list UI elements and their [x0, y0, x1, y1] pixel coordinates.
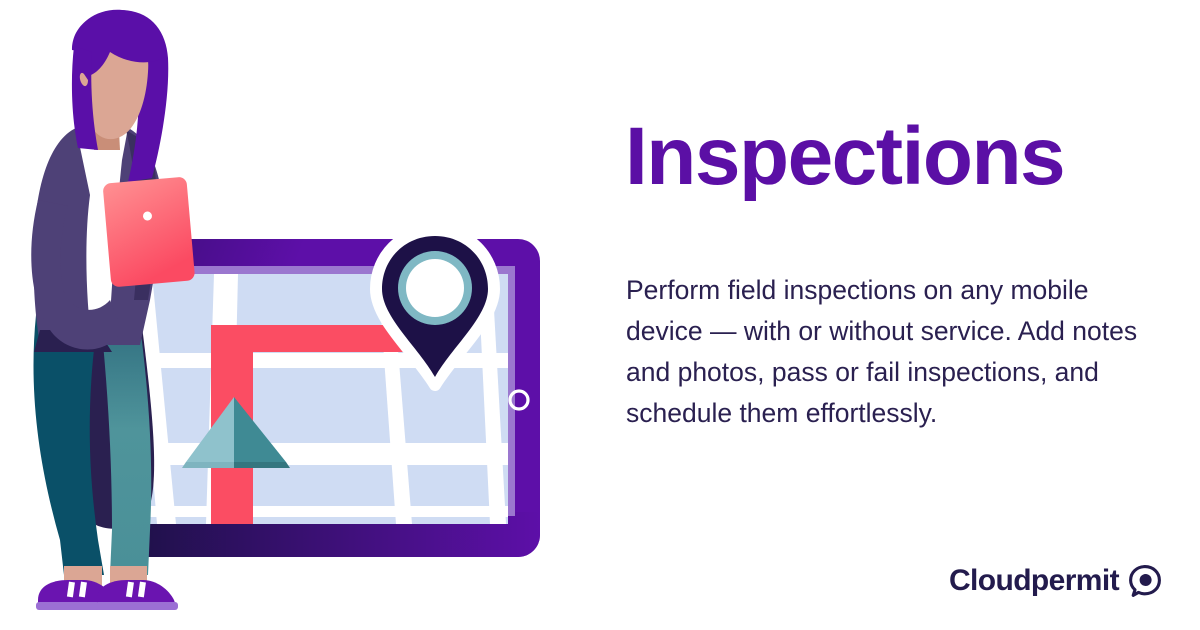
- illustration-svg: [0, 0, 600, 630]
- shoe-front: [95, 580, 178, 610]
- handheld-tablet-body: [102, 176, 195, 287]
- brand-logo[interactable]: Cloudpermit: [949, 564, 1162, 598]
- content-column: Inspections Perform field inspections on…: [620, 0, 1180, 630]
- body-copy: Perform field inspections on any mobile …: [626, 270, 1146, 434]
- map-road-h3: [137, 506, 508, 517]
- map-route-vertical-lower: [211, 465, 253, 524]
- promo-card: Inspections Perform field inspections on…: [0, 0, 1200, 630]
- field-inspector-illustration: [0, 0, 600, 630]
- handheld-tablet: [102, 176, 195, 287]
- brand-wordmark: Cloudpermit: [949, 566, 1119, 596]
- page-title: Inspections: [625, 116, 1064, 198]
- speech-bubble-eye-icon: [1128, 564, 1162, 598]
